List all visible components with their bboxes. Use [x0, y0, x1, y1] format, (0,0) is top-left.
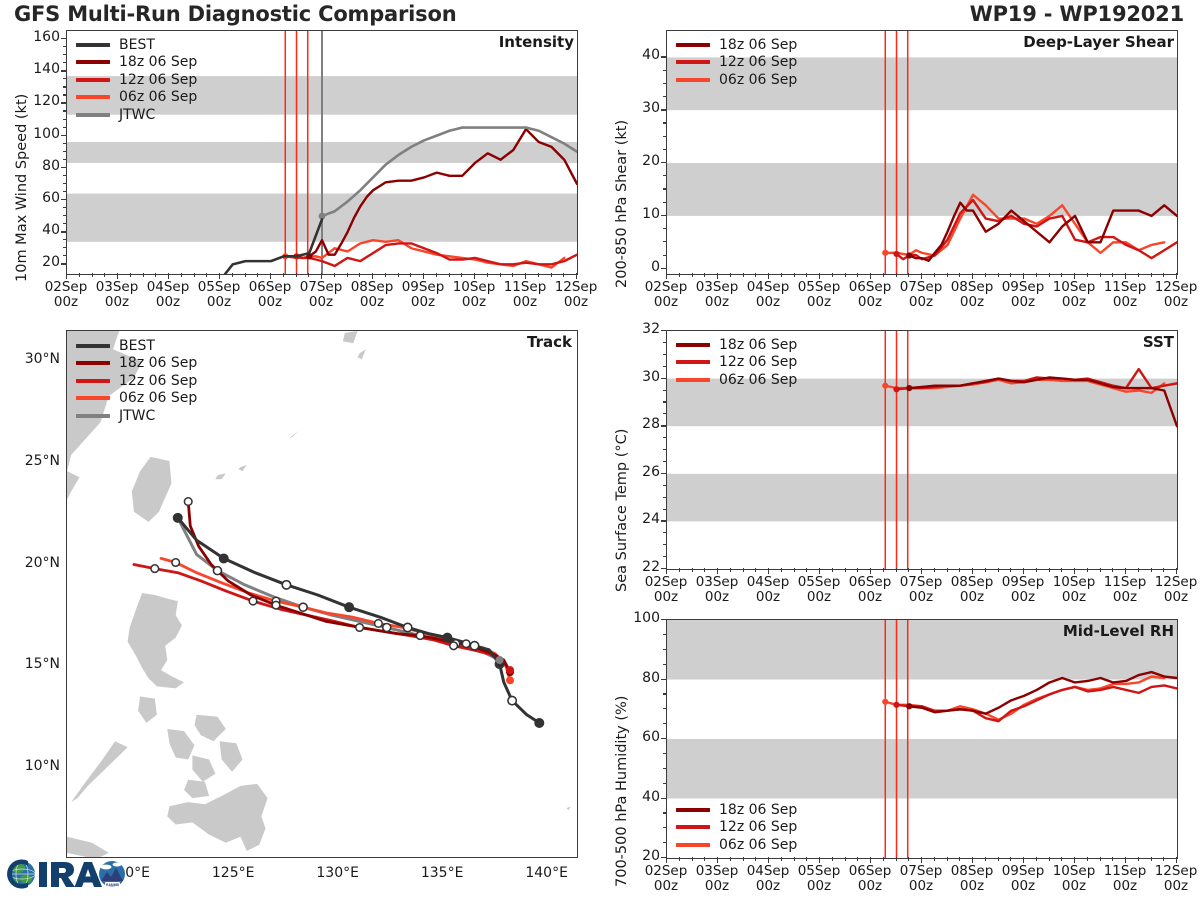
- legend-label-18z: 18z 06 Sep: [119, 355, 197, 371]
- x-minor-tick: [857, 273, 858, 277]
- x-minor-tick: [1163, 568, 1164, 572]
- series-start-marker: [882, 250, 888, 256]
- x-tick-mark: [474, 273, 475, 279]
- x-minor-tick: [1061, 568, 1062, 572]
- y-minor-tick: [63, 215, 67, 216]
- y-tick-label: 28: [620, 416, 660, 432]
- y-tick-label: 0: [620, 259, 660, 275]
- x-minor-tick: [934, 857, 935, 861]
- x-tick-label: 12Sep00z: [1142, 575, 1200, 606]
- x-minor-tick: [1100, 273, 1101, 277]
- legend-item-jtwc: JTWC: [76, 106, 197, 124]
- legend-item-12z: 12z 06 Sep: [676, 819, 797, 837]
- x-minor-tick: [832, 273, 833, 277]
- y-minor-tick: [663, 255, 667, 256]
- y-tick-mark: [661, 109, 666, 110]
- legend-label-06z: 06z 06 Sep: [719, 72, 797, 88]
- series-start-marker: [893, 702, 899, 708]
- y-minor-tick: [663, 136, 667, 137]
- y-minor-tick: [663, 532, 667, 533]
- x-minor-tick: [845, 568, 846, 572]
- y-minor-tick: [663, 401, 667, 402]
- x-tick-mark: [1023, 857, 1024, 863]
- panel-rh: 700-500 hPa Humidity (%) Mid-Level RH 18…: [600, 605, 1200, 900]
- track-marker-run-start: [506, 666, 514, 674]
- sst-legend: 18z 06 Sep 12z 06 Sep 06z 06 Sep: [676, 336, 797, 389]
- legend-label-12z: 12z 06 Sep: [719, 354, 797, 370]
- y-tick-mark: [61, 102, 66, 103]
- y-minor-tick: [663, 842, 667, 843]
- x-tick-mark: [1074, 857, 1075, 863]
- y-minor-tick: [63, 223, 67, 224]
- x-minor-tick: [845, 857, 846, 861]
- track-marker-filled: [220, 554, 228, 562]
- x-minor-tick: [143, 273, 144, 277]
- panel-sst: Sea Surface Temp (°C) SST 18z 06 Sep 12z…: [600, 320, 1200, 605]
- shaded-band: [667, 739, 1177, 799]
- legend-label-06z: 06z 06 Sep: [719, 837, 797, 853]
- y-tick-label: 100: [620, 610, 660, 626]
- x-tick-mark: [1125, 273, 1126, 279]
- y-minor-tick: [663, 812, 667, 813]
- legend-swatch-06z: [76, 396, 110, 400]
- y-minor-tick: [663, 461, 667, 462]
- y-tick-mark: [661, 738, 666, 739]
- y-minor-tick: [63, 62, 67, 63]
- legend-label-jtwc: JTWC: [119, 107, 155, 123]
- y-minor-tick: [663, 753, 667, 754]
- x-minor-tick: [883, 273, 884, 277]
- legend-label-jtwc: JTWC: [119, 408, 155, 424]
- y-minor-tick: [663, 354, 667, 355]
- legend-item-12z: 12z 06 Sep: [676, 354, 797, 372]
- track-marker-hollow: [403, 623, 411, 631]
- legend-label-12z: 12z 06 Sep: [719, 819, 797, 835]
- x-tick-mark: [921, 857, 922, 863]
- y-tick-mark: [661, 619, 666, 620]
- x-minor-tick: [794, 273, 795, 277]
- y-tick-label: 32: [620, 321, 660, 337]
- track-marker-hollow: [416, 632, 424, 640]
- x-minor-tick: [283, 273, 284, 277]
- x-tick-mark: [1074, 273, 1075, 279]
- track-marker-filled: [535, 719, 543, 727]
- landmass-ishigaki: [215, 473, 225, 479]
- x-minor-tick: [692, 273, 693, 277]
- track-marker-filled: [345, 603, 353, 611]
- legend-swatch-18z: [76, 361, 110, 365]
- x-minor-tick: [1112, 273, 1113, 277]
- legend-swatch-06z: [676, 78, 710, 82]
- x-tick-mark: [168, 273, 169, 279]
- legend-label-06z: 06z 06 Sep: [119, 89, 197, 105]
- y-tick-mark: [661, 378, 666, 379]
- lon-tick-label: 135°E: [402, 866, 482, 882]
- landmass-negros: [184, 780, 209, 798]
- lat-tick-label: 15°N: [4, 656, 60, 672]
- legend-swatch-06z: [676, 843, 710, 847]
- x-minor-tick: [1010, 568, 1011, 572]
- series-start-marker: [906, 385, 912, 391]
- x-minor-tick: [245, 273, 246, 277]
- x-minor-tick: [755, 273, 756, 277]
- panel-track: Track BEST 18z 06 Sep 12z 06 Sep 06z 06 …: [0, 320, 600, 900]
- lat-tick-label: 30°N: [4, 351, 60, 367]
- series-start-marker: [893, 251, 899, 257]
- x-minor-tick: [959, 273, 960, 277]
- y-tick-label: 60: [20, 190, 60, 206]
- x-tick-mark: [1176, 857, 1177, 863]
- x-minor-tick: [832, 568, 833, 572]
- x-minor-tick: [806, 857, 807, 861]
- x-minor-tick: [781, 568, 782, 572]
- x-minor-tick: [832, 857, 833, 861]
- y-minor-tick: [663, 149, 667, 150]
- x-minor-tick: [743, 568, 744, 572]
- legend-item-18z: 18z 06 Sep: [676, 36, 797, 54]
- legend-swatch-12z: [76, 78, 110, 82]
- x-minor-tick: [1061, 273, 1062, 277]
- landmass-luzon: [128, 593, 184, 688]
- y-tick-label: 30: [620, 369, 660, 385]
- legend-label-12z: 12z 06 Sep: [119, 373, 197, 389]
- series-start-marker: [906, 703, 912, 709]
- track-marker-hollow: [213, 567, 221, 575]
- y-tick-label: 120: [20, 93, 60, 109]
- x-minor-tick: [1049, 273, 1050, 277]
- track-marker-hollow: [470, 642, 478, 650]
- landmass-panay: [167, 729, 194, 760]
- x-minor-tick: [551, 273, 552, 277]
- x-minor-tick: [1138, 273, 1139, 277]
- legend-swatch-06z: [676, 378, 710, 382]
- x-minor-tick: [1010, 273, 1011, 277]
- legend-label-18z: 18z 06 Sep: [119, 54, 197, 70]
- x-minor-tick: [998, 857, 999, 861]
- x-minor-tick: [206, 273, 207, 277]
- x-minor-tick: [1100, 857, 1101, 861]
- x-minor-tick: [1049, 857, 1050, 861]
- x-minor-tick: [194, 273, 195, 277]
- y-minor-tick: [63, 151, 67, 152]
- y-tick-mark: [661, 425, 666, 426]
- x-minor-tick: [104, 273, 105, 277]
- x-tick-label: 12Sep00z: [1142, 280, 1200, 311]
- y-minor-tick: [663, 708, 667, 709]
- x-minor-tick: [1112, 568, 1113, 572]
- landmass-mindanao: [167, 784, 267, 851]
- y-minor-tick: [663, 497, 667, 498]
- shaded-band: [667, 163, 1177, 216]
- y-tick-mark: [661, 268, 666, 269]
- figure-canvas: GFS Multi-Run Diagnostic Comparison WP19…: [0, 0, 1200, 900]
- y-tick-mark: [61, 263, 66, 264]
- y-tick-mark: [661, 473, 666, 474]
- x-tick-mark: [66, 273, 67, 279]
- x-minor-tick: [730, 568, 731, 572]
- x-minor-tick: [755, 857, 756, 861]
- y-tick-label: 140: [20, 61, 60, 77]
- x-minor-tick: [896, 857, 897, 861]
- x-minor-tick: [857, 568, 858, 572]
- x-minor-tick: [449, 273, 450, 277]
- legend-label-best: BEST: [119, 338, 155, 354]
- x-minor-tick: [181, 273, 182, 277]
- legend-item-best: BEST: [76, 337, 197, 355]
- x-tick-mark: [666, 857, 667, 863]
- y-minor-tick: [663, 122, 667, 123]
- legend-item-jtwc: JTWC: [76, 407, 197, 425]
- x-tick-mark: [717, 857, 718, 863]
- x-tick-mark: [870, 273, 871, 279]
- x-minor-tick: [1163, 857, 1164, 861]
- x-minor-tick: [985, 857, 986, 861]
- track-marker-hollow: [151, 565, 159, 573]
- x-tick-mark: [1176, 568, 1177, 574]
- series-start-marker: [906, 252, 912, 258]
- track-marker-run-start: [506, 676, 514, 684]
- x-tick-mark: [666, 568, 667, 574]
- track-marker-hollow: [375, 620, 383, 628]
- x-tick-mark: [1125, 568, 1126, 574]
- x-minor-tick: [1010, 857, 1011, 861]
- y-tick-mark: [661, 679, 666, 680]
- x-tick-mark: [576, 273, 577, 279]
- track-marker-hollow: [282, 581, 290, 589]
- lon-tick-label: 140°E: [507, 866, 587, 882]
- y-minor-tick: [663, 366, 667, 367]
- y-minor-tick: [663, 413, 667, 414]
- legend-label-18z: 18z 06 Sep: [719, 802, 797, 818]
- x-tick-mark: [219, 273, 220, 279]
- lon-tick-label: 130°E: [298, 866, 378, 882]
- y-tick-label: 80: [620, 670, 660, 686]
- legend-swatch-12z: [76, 379, 110, 383]
- y-tick-label: 30: [620, 100, 660, 116]
- x-minor-tick: [896, 273, 897, 277]
- landmass-okinawa: [289, 424, 306, 438]
- x-minor-tick: [296, 273, 297, 277]
- y-tick-mark: [61, 231, 66, 232]
- track-marker-hollow: [450, 642, 458, 650]
- x-minor-tick: [934, 568, 935, 572]
- x-minor-tick: [704, 568, 705, 572]
- x-minor-tick: [998, 568, 999, 572]
- y-tick-label: 60: [620, 729, 660, 745]
- y-minor-tick: [63, 247, 67, 248]
- series-start-marker: [882, 383, 888, 389]
- legend-item-06z: 06z 06 Sep: [676, 836, 797, 854]
- x-minor-tick: [692, 857, 693, 861]
- landmass-leyte: [220, 741, 243, 772]
- legend-item-06z: 06z 06 Sep: [76, 390, 197, 408]
- landmass-cebu: [192, 755, 215, 781]
- x-tick-mark: [921, 273, 922, 279]
- y-tick-label: 20: [620, 848, 660, 864]
- y-tick-mark: [61, 135, 66, 136]
- x-minor-tick: [692, 568, 693, 572]
- legend-item-12z: 12z 06 Sep: [76, 372, 197, 390]
- track-marker-hollow: [249, 597, 257, 605]
- x-minor-tick: [896, 568, 897, 572]
- y-minor-tick: [663, 83, 667, 84]
- x-minor-tick: [679, 568, 680, 572]
- legend-label-best: BEST: [119, 37, 155, 53]
- y-minor-tick: [63, 183, 67, 184]
- x-tick-mark: [870, 857, 871, 863]
- y-minor-tick: [663, 649, 667, 650]
- y-tick-mark: [61, 167, 66, 168]
- legend-label-12z: 12z 06 Sep: [119, 72, 197, 88]
- legend-label-18z: 18z 06 Sep: [719, 37, 797, 53]
- x-minor-tick: [92, 273, 93, 277]
- x-minor-tick: [998, 273, 999, 277]
- svg-text:RAMMB: RAMMB: [106, 883, 120, 887]
- x-minor-tick: [755, 568, 756, 572]
- x-tick-mark: [423, 273, 424, 279]
- landmass-china-south: [67, 471, 80, 500]
- x-minor-tick: [857, 857, 858, 861]
- x-tick-mark: [717, 273, 718, 279]
- y-minor-tick: [663, 509, 667, 510]
- legend-item-best: BEST: [76, 36, 197, 54]
- x-tick-mark: [819, 857, 820, 863]
- y-minor-tick: [663, 437, 667, 438]
- x-minor-tick: [985, 273, 986, 277]
- legend-label-06z: 06z 06 Sep: [119, 390, 197, 406]
- x-minor-tick: [385, 273, 386, 277]
- y-tick-label: 40: [620, 789, 660, 805]
- x-minor-tick: [679, 857, 680, 861]
- x-minor-tick: [781, 857, 782, 861]
- x-minor-tick: [1138, 568, 1139, 572]
- x-minor-tick: [500, 273, 501, 277]
- y-minor-tick: [63, 143, 67, 144]
- x-tick-mark: [1074, 568, 1075, 574]
- track-marker-hollow: [272, 601, 280, 609]
- y-minor-tick: [663, 202, 667, 203]
- y-tick-label: 10: [620, 206, 660, 222]
- x-minor-tick: [538, 273, 539, 277]
- x-tick-mark: [1176, 273, 1177, 279]
- y-minor-tick: [63, 239, 67, 240]
- y-tick-mark: [661, 798, 666, 799]
- y-minor-tick: [63, 191, 67, 192]
- x-minor-tick: [985, 568, 986, 572]
- x-minor-tick: [794, 568, 795, 572]
- x-tick-mark: [666, 273, 667, 279]
- legend-item-06z: 06z 06 Sep: [676, 371, 797, 389]
- legend-swatch-18z: [676, 343, 710, 347]
- x-tick-mark: [768, 857, 769, 863]
- x-tick-mark: [1023, 273, 1024, 279]
- y-tick-label: 100: [20, 126, 60, 142]
- x-minor-tick: [947, 273, 948, 277]
- x-minor-tick: [934, 273, 935, 277]
- landmass-mindoro: [138, 697, 157, 723]
- x-minor-tick: [679, 273, 680, 277]
- x-minor-tick: [461, 273, 462, 277]
- track-marker-hollow: [508, 696, 516, 704]
- x-minor-tick: [512, 273, 513, 277]
- x-minor-tick: [704, 273, 705, 277]
- legend-item-18z: 18z 06 Sep: [676, 801, 797, 819]
- legend-swatch-best: [76, 43, 110, 47]
- legend-item-18z: 18z 06 Sep: [76, 355, 197, 373]
- track-marker-hollow: [383, 623, 391, 631]
- x-minor-tick: [1138, 857, 1139, 861]
- legend-swatch-12z: [676, 825, 710, 829]
- x-minor-tick: [130, 273, 131, 277]
- y-tick-label: 22: [620, 559, 660, 575]
- y-minor-tick: [663, 449, 667, 450]
- legend-label-12z: 12z 06 Sep: [719, 54, 797, 70]
- x-tick-mark: [921, 568, 922, 574]
- y-minor-tick: [63, 86, 67, 87]
- legend-swatch-18z: [676, 43, 710, 47]
- x-tick-mark: [819, 568, 820, 574]
- landmass-samar: [195, 715, 226, 741]
- x-minor-tick: [947, 857, 948, 861]
- x-minor-tick: [563, 273, 564, 277]
- lat-tick-label: 25°N: [4, 453, 60, 469]
- y-tick-label: 24: [620, 511, 660, 527]
- x-minor-tick: [1151, 273, 1152, 277]
- y-minor-tick: [663, 188, 667, 189]
- x-minor-tick: [359, 273, 360, 277]
- x-tick-mark: [768, 568, 769, 574]
- y-tick-mark: [661, 56, 666, 57]
- legend-item-06z: 06z 06 Sep: [76, 89, 197, 107]
- y-tick-mark: [61, 70, 66, 71]
- track-marker-hollow: [462, 640, 470, 648]
- y-tick-label: 160: [20, 29, 60, 45]
- y-tick-mark: [661, 330, 666, 331]
- y-minor-tick: [663, 96, 667, 97]
- legend-item-06z: 06z 06 Sep: [676, 71, 797, 89]
- legend-swatch-jtwc: [76, 414, 110, 418]
- landmass-miyako: [238, 465, 246, 471]
- legend-swatch-12z: [676, 360, 710, 364]
- y-minor-tick: [63, 255, 67, 256]
- x-tick-mark: [1125, 857, 1126, 863]
- x-minor-tick: [947, 568, 948, 572]
- x-minor-tick: [79, 273, 80, 277]
- x-tick-mark: [972, 857, 973, 863]
- y-minor-tick: [63, 159, 67, 160]
- series-line: [885, 677, 1164, 720]
- x-minor-tick: [845, 273, 846, 277]
- y-minor-tick: [663, 228, 667, 229]
- x-tick-mark: [525, 273, 526, 279]
- legend-item-12z: 12z 06 Sep: [76, 71, 197, 89]
- x-minor-tick: [257, 273, 258, 277]
- x-minor-tick: [806, 273, 807, 277]
- x-minor-tick: [1061, 857, 1062, 861]
- x-minor-tick: [487, 273, 488, 277]
- y-minor-tick: [63, 207, 67, 208]
- y-minor-tick: [63, 119, 67, 120]
- series-start-marker: [882, 699, 888, 705]
- legend-swatch-12z: [676, 60, 710, 64]
- x-minor-tick: [1100, 568, 1101, 572]
- x-minor-tick: [347, 273, 348, 277]
- x-tick-mark: [972, 273, 973, 279]
- y-tick-mark: [661, 215, 666, 216]
- track-marker-hollow: [299, 603, 307, 611]
- y-minor-tick: [663, 485, 667, 486]
- lon-tick-label: 125°E: [193, 866, 273, 882]
